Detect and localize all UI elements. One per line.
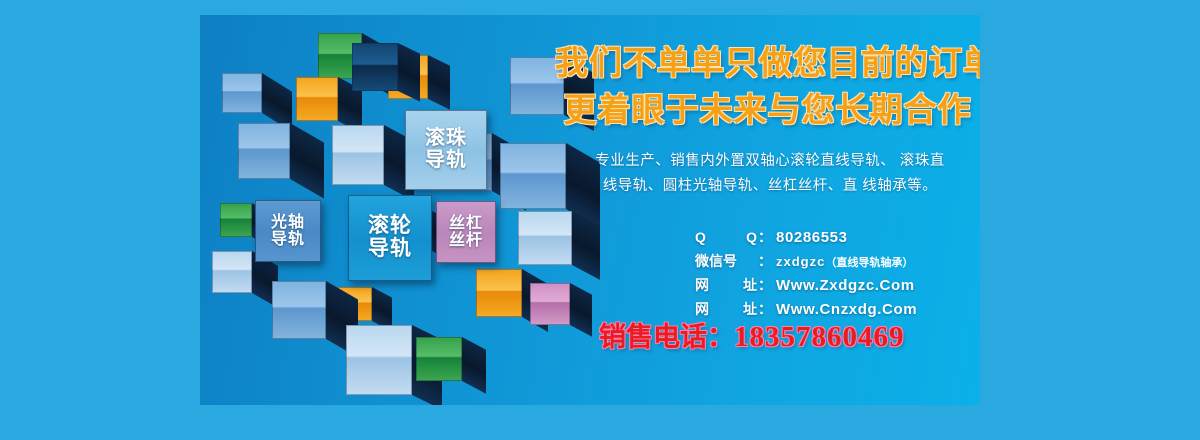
website-1-colon: ： (758, 275, 772, 295)
sales-phone[interactable]: 销售电话：18357860469 (599, 315, 959, 354)
website-1-label-char-2: 址 (743, 275, 757, 295)
contact-row-wechat: 微信号 ： zxdgzc （直线导轨轴承） (695, 251, 980, 271)
banner-description: 专业生产、销售内外置双轴心滚轮直线导轨、 滚珠直线导轨、圆柱光轴导轨、丝杠丝杆、… (591, 149, 949, 199)
qq-number[interactable]: 80286553 (776, 229, 848, 246)
product-box-line1: 滚轮 (368, 215, 412, 238)
cube-decoration (220, 203, 252, 237)
qq-label-char-2: Q (746, 229, 757, 245)
product-box-gunlun-daogui[interactable]: 滚轮 导轨 (348, 195, 432, 281)
banner-panel: 滚珠 导轨 光轴 导轨 滚轮 导轨 丝杠 丝杆 (200, 15, 980, 405)
product-box-guangzhou-daogui[interactable]: 光轴 导轨 (255, 200, 321, 262)
product-box-line2: 导轨 (271, 231, 305, 248)
contact-info-list: Q Q ： 80286553 微信号 ： zxdgzc （直线导轨轴承） 网 址 (695, 227, 980, 323)
cube-decoration (222, 73, 262, 113)
description-line-3: 线轴承等。 (862, 178, 937, 194)
wechat-label: 微信号 (695, 251, 757, 271)
cube-burst-graphic: 滚珠 导轨 光轴 导轨 滚轮 导轨 丝杠 丝杆 (200, 15, 600, 405)
cube-decoration (476, 269, 522, 317)
cube-decoration (212, 251, 252, 293)
wechat-id[interactable]: zxdgzc (776, 254, 825, 269)
website-1-url[interactable]: Www.Zxdgzc.Com (776, 277, 915, 294)
qq-label: Q Q (695, 229, 757, 245)
description-line-1: 专业生产、销售内外置双轴心滚轮直线导轨、 (595, 153, 895, 169)
wechat-colon: ： (758, 251, 772, 271)
contact-row-website-1: 网 址 ： Www.Zxdgzc.Com (695, 275, 980, 295)
product-box-gunzhu-daogui[interactable]: 滚珠 导轨 (405, 110, 487, 190)
cube-decoration (272, 281, 326, 339)
wechat-note: （直线导轨轴承） (825, 254, 913, 270)
sales-phone-label: 销售电话： (599, 322, 734, 352)
headline-line-2: 更着眼于未来与您长期合作 (555, 86, 980, 133)
product-box-line1: 丝杠 (449, 215, 483, 232)
banner-content: 我们不单单只做您目前的订单 更着眼于未来与您长期合作 专业生产、销售内外置双轴心… (555, 15, 980, 405)
cube-decoration (296, 77, 338, 121)
qq-label-char-1: Q (695, 229, 706, 245)
cube-decoration (238, 123, 290, 179)
headline-line-1: 我们不单单只做您目前的订单 (555, 44, 980, 81)
promotional-banner: 滚珠 导轨 光轴 导轨 滚轮 导轨 丝杠 丝杆 (0, 0, 1200, 440)
website-1-label: 网 址 (695, 275, 757, 295)
product-box-sigang-sigan[interactable]: 丝杠 丝杆 (436, 201, 496, 263)
product-box-line1: 光轴 (271, 214, 305, 231)
cube-decoration (416, 337, 462, 381)
contact-row-qq: Q Q ： 80286553 (695, 227, 980, 247)
qq-colon: ： (758, 227, 772, 247)
product-box-line2: 丝杆 (449, 232, 483, 249)
cube-decoration (352, 43, 398, 91)
website-1-label-char-1: 网 (695, 275, 709, 295)
product-box-line2: 导轨 (368, 238, 412, 261)
cube-decoration (346, 325, 412, 395)
product-box-line2: 导轨 (425, 150, 467, 172)
cube-decoration (332, 125, 384, 185)
banner-headline: 我们不单单只做您目前的订单 更着眼于未来与您长期合作 (555, 39, 980, 133)
sales-phone-number[interactable]: 18357860469 (734, 321, 905, 353)
product-box-line1: 滚珠 (425, 128, 467, 150)
